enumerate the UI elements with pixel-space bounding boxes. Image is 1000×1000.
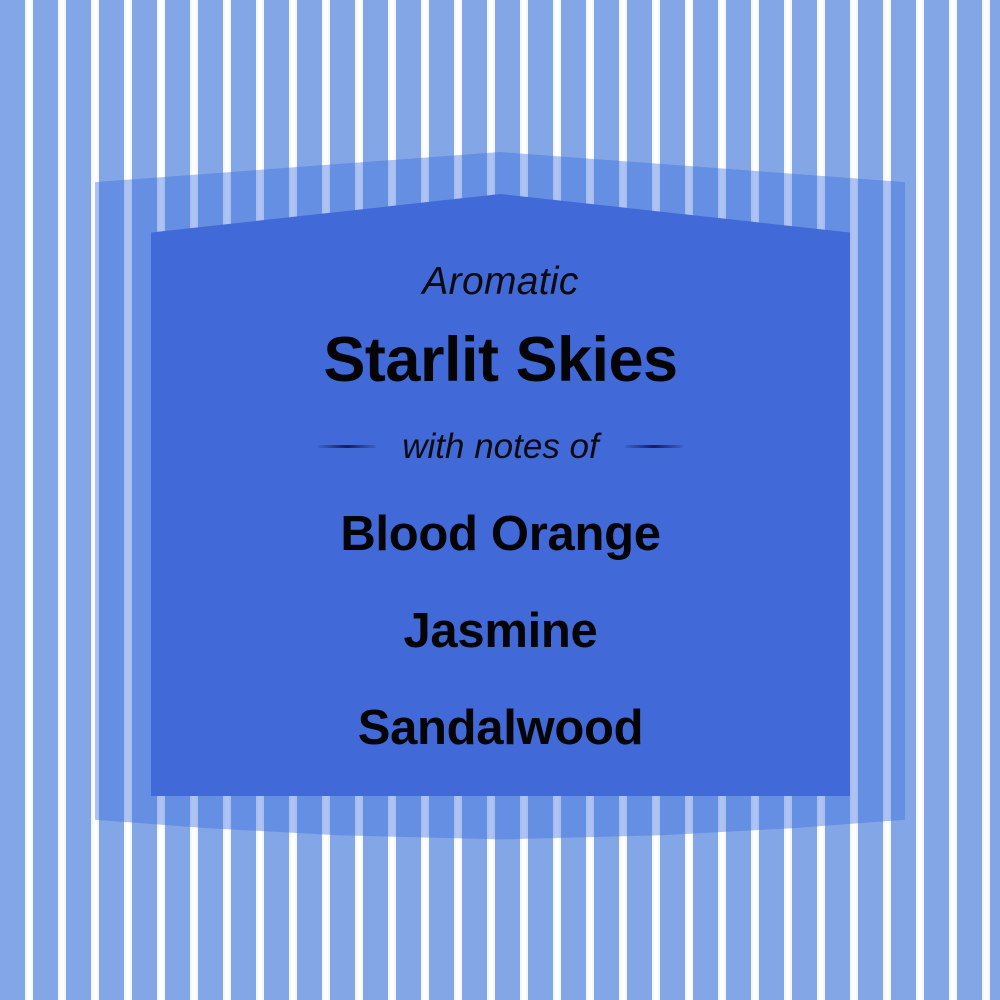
list-item: Blood Orange — [340, 510, 660, 559]
notes-label: with notes of — [402, 429, 599, 464]
label-content: Aromatic Starlit Skies with notes of Blo… — [151, 194, 850, 796]
fragrance-label-canvas: Aromatic Starlit Skies with notes of Blo… — [0, 0, 1000, 1000]
notes-divider: with notes of — [151, 429, 850, 464]
list-item: Jasmine — [403, 607, 597, 656]
divider-dash-left-icon — [318, 445, 376, 448]
divider-dash-right-icon — [625, 445, 683, 448]
list-item: Sandalwood — [358, 704, 644, 753]
eyebrow-text: Aromatic — [422, 262, 578, 301]
scent-notes-list: Blood Orange Jasmine Sandalwood — [151, 510, 850, 753]
page-title: Starlit Skies — [323, 329, 677, 392]
